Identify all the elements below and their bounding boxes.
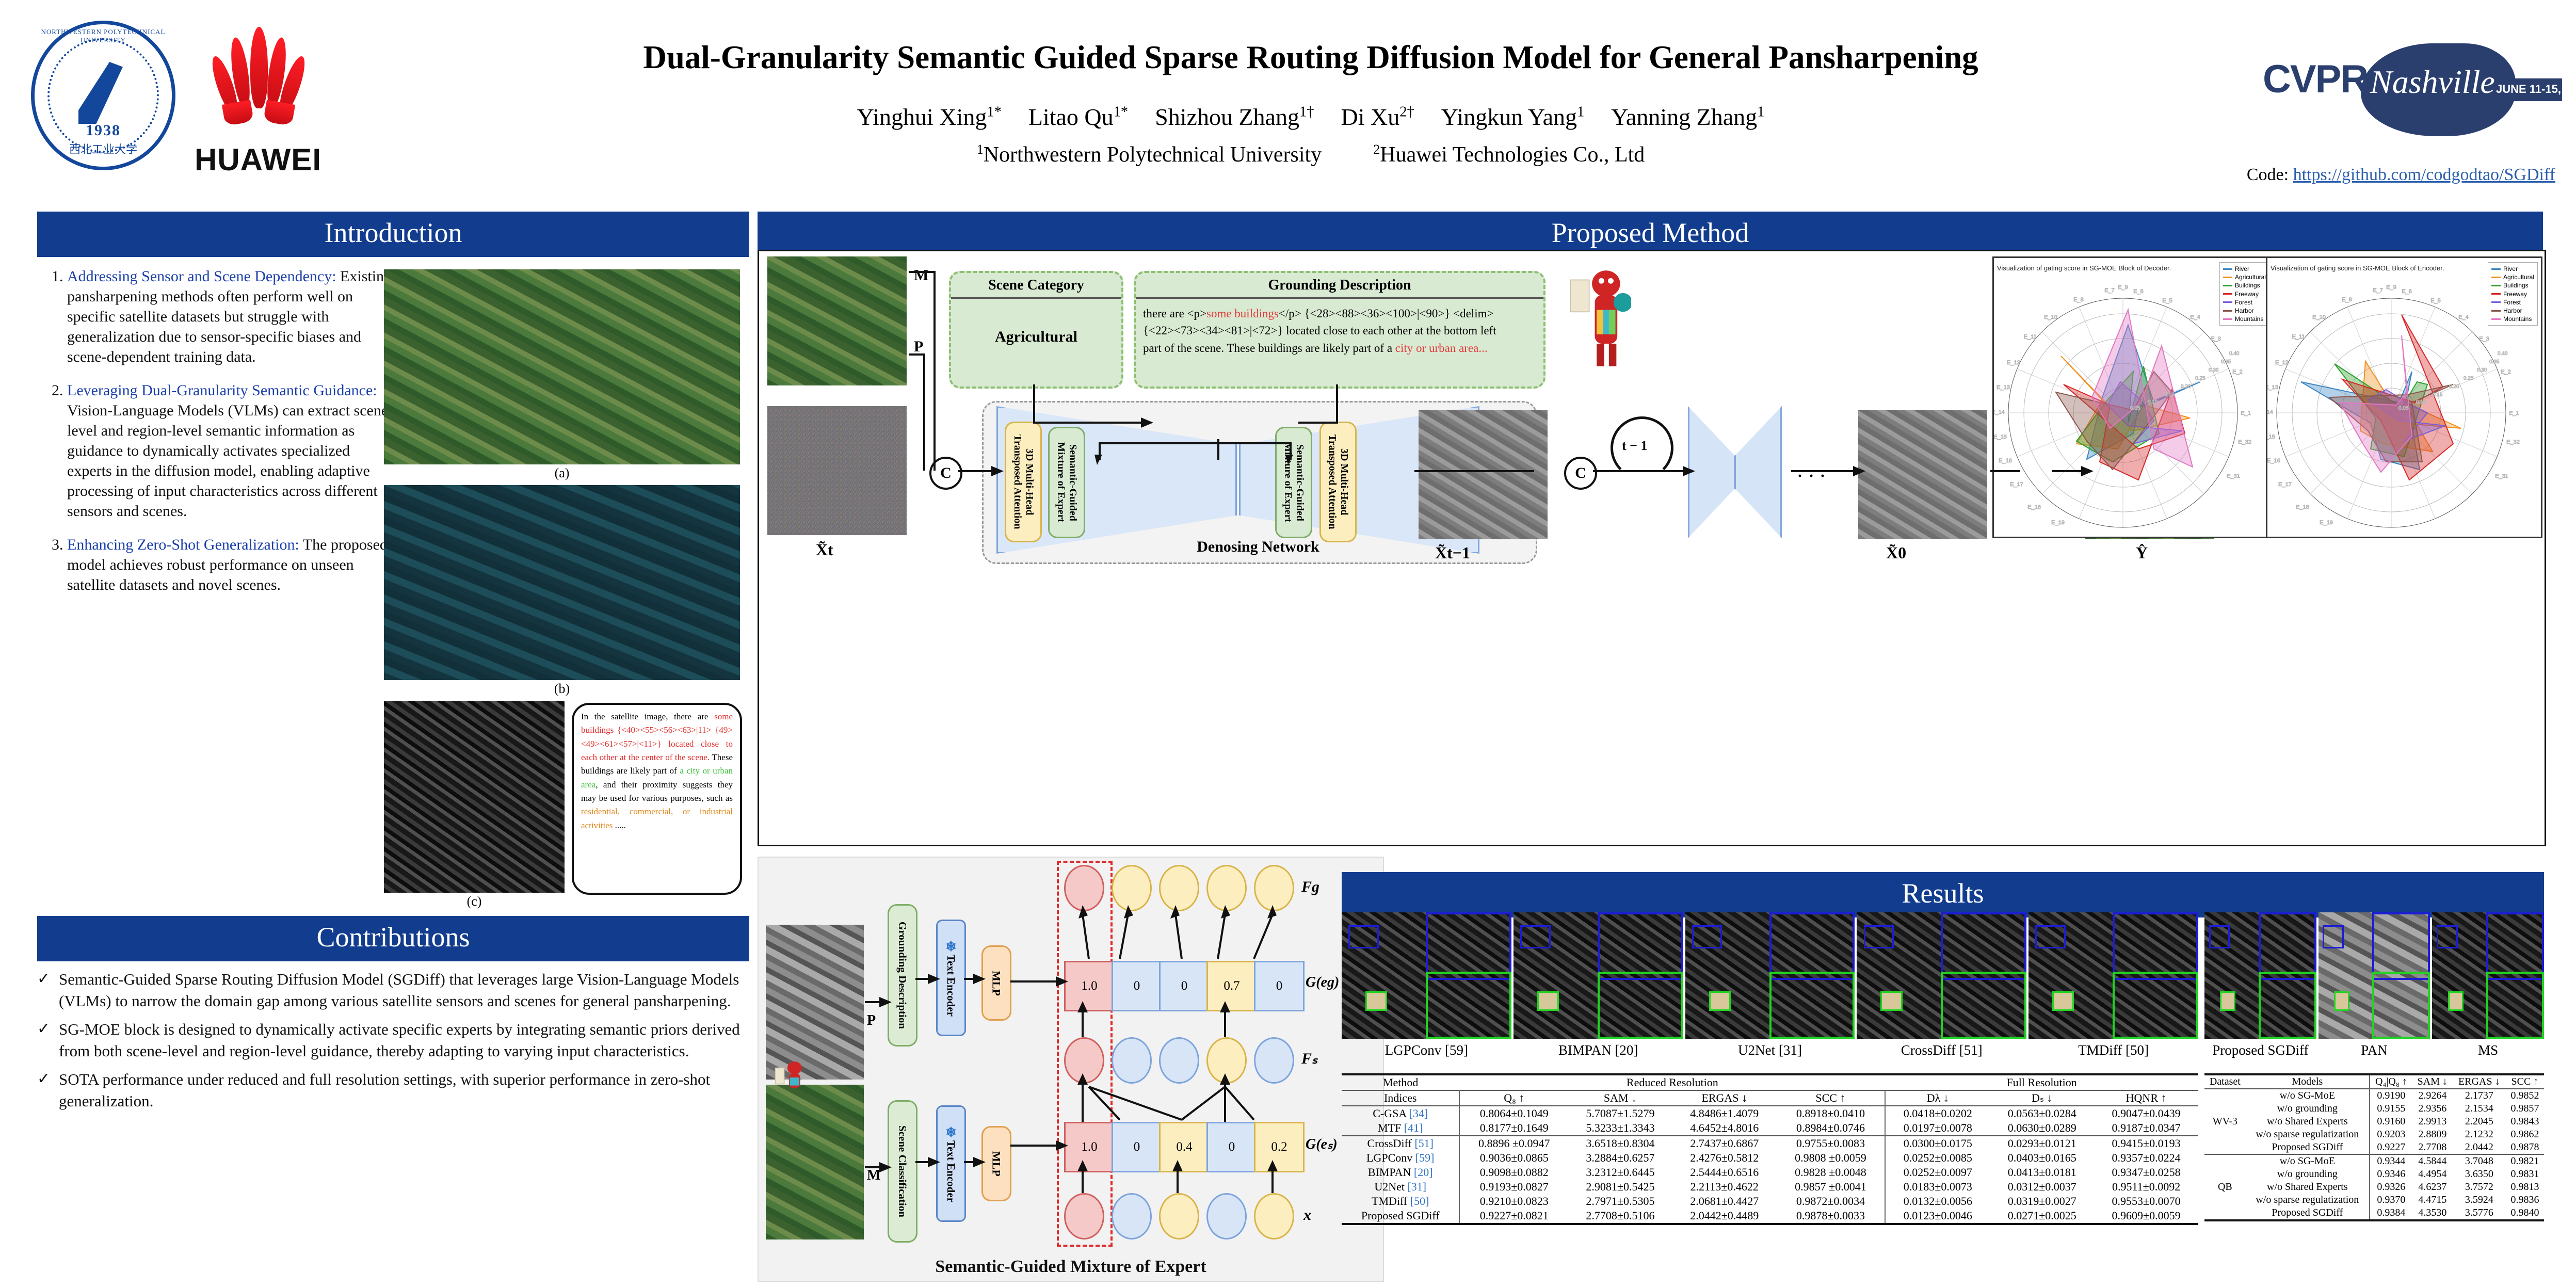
npu-logo-year: 1938 — [31, 122, 175, 139]
cell: 2.2113±0.4622 — [1672, 1180, 1777, 1194]
legend-item: River — [2223, 265, 2266, 273]
svg-text:E_2: E_2 — [2501, 369, 2511, 375]
table-row: LGPConv [59] 0.9036±0.0865 3.2884±0.6257… — [1342, 1151, 2198, 1165]
legend-item: Buildings — [2223, 281, 2266, 289]
timestep-label: t − 1 — [1622, 438, 1647, 454]
code-url-link[interactable]: https://github.com/codgodtao/SGDiff — [2293, 165, 2555, 184]
svg-text:0.20: 0.20 — [2449, 384, 2459, 390]
svg-text:E_2: E_2 — [2232, 369, 2243, 375]
moe-gate-top-cell-3: 0.7 — [1206, 961, 1257, 1011]
residual-image-xt1 — [1419, 410, 1548, 539]
grounding-line-1: there are <p>some buildings</p> {<28><88… — [1143, 305, 1536, 322]
npu-logo-top-text: NORTHWESTERN POLYTECHNICAL UNIVERSITY — [31, 28, 175, 44]
check-icon: ✓ — [37, 1069, 59, 1112]
svg-text:E_3: E_3 — [2211, 336, 2221, 342]
legend-item: Mountains — [2491, 315, 2534, 323]
cell: 4.3530 — [2412, 1206, 2453, 1220]
npu-logo-chinese: 西北工业大学 — [31, 140, 175, 157]
moe-gate-bottom-cell-1: 0 — [1112, 1122, 1162, 1172]
page-title: Dual-Granularity Semantic Guided Sparse … — [392, 39, 2229, 76]
th-q8: Q₈ ↑ — [1459, 1090, 1568, 1106]
input-ms-image — [767, 256, 907, 385]
cell: 0.9346 — [2370, 1168, 2412, 1181]
cvpr-dates: JUNE 11-15, 2025 — [2496, 83, 2576, 96]
denoise-block-3: 3D Multi-Head Transposed Attention — [1319, 422, 1357, 542]
svg-text:0.05: 0.05 — [2130, 406, 2140, 411]
moe-gate-bottom-cell-4: 0.2 — [1254, 1122, 1305, 1172]
svg-text:E_31: E_31 — [2227, 473, 2240, 479]
moe-text-encoder-bottom-label: Text Encoder — [945, 1140, 957, 1202]
th-sam: SAM ↓ — [1568, 1090, 1672, 1106]
intro-figure-b-caption: (b) — [384, 681, 740, 697]
cell: 2.2045 — [2453, 1115, 2506, 1128]
cell: 0.9415±0.0193 — [2094, 1136, 2198, 1151]
moe-gate-bottom-cell-2: 0.4 — [1159, 1122, 1210, 1172]
alpaca-mascot-icon — [1564, 267, 1631, 370]
cell: 0.9813 — [2506, 1181, 2544, 1194]
cell: 3.5776 — [2453, 1206, 2506, 1220]
svg-text:E_13: E_13 — [2267, 384, 2278, 391]
cell: 4.4715 — [2412, 1194, 2453, 1206]
stage-label-x0: X̃0 — [1886, 543, 1906, 562]
table-row: Proposed SGDiff 0.9227 2.7708 2.0442 0.9… — [2204, 1141, 2544, 1154]
legend-item: Freeway — [2223, 290, 2266, 298]
cell: 0.0293±0.0121 — [1990, 1136, 2094, 1151]
svg-text:E_17: E_17 — [2278, 481, 2292, 488]
table-row: Proposed SGDiff 0.9227±0.0821 2.7708±0.5… — [1342, 1209, 2198, 1224]
cell: 0.9227 — [2370, 1141, 2412, 1154]
th-full-resolution: Full Resolution — [1885, 1074, 2198, 1090]
moe-text-encoder-bottom: ❄ Text Encoder — [936, 1105, 966, 1222]
svg-text:E_3: E_3 — [2479, 336, 2489, 342]
th-sam: SAM ↓ — [2412, 1074, 2453, 1089]
svg-text:E_17: E_17 — [2010, 481, 2023, 488]
callout-text-7: ..... — [613, 820, 626, 830]
moe-node-x-4 — [1254, 1193, 1294, 1239]
affiliation-1: 2Huawei Technologies Co., Ltd — [1373, 143, 1645, 167]
callout-text-5: , and their proximity suggests they may … — [581, 780, 733, 803]
huawei-logo: HUAWEI — [183, 25, 333, 174]
cell: 3.2884±0.6257 — [1568, 1151, 1672, 1165]
moe-mlp-top: MLP — [981, 945, 1011, 1021]
svg-text:E_8: E_8 — [2342, 297, 2352, 303]
cell: 0.9843 — [2506, 1115, 2544, 1128]
svg-text:E_10: E_10 — [2044, 314, 2057, 320]
section-header-results: Results — [1342, 872, 2544, 917]
denoise-block-1: Semantic-Guided Mixture of Expert — [1048, 427, 1085, 538]
ellipsis-dots: ··· — [1796, 464, 1830, 489]
cell: 4.5844 — [2412, 1154, 2453, 1168]
cell: 0.0123±0.0046 — [1885, 1209, 1990, 1224]
cell: 0.0183±0.0073 — [1885, 1180, 1990, 1194]
moe-node-x-1 — [1112, 1193, 1152, 1239]
svg-text:0.10: 0.10 — [2416, 399, 2426, 405]
result-caption: CrossDiff [51] — [1857, 1042, 2026, 1058]
result-caption: MS — [2432, 1042, 2544, 1058]
introduction-panel: Introduction Addressing Sensor and Scene… — [37, 212, 749, 922]
moe-mlp-top-label: MLP — [990, 971, 1003, 996]
result-caption: BIMPAN [20] — [1514, 1042, 1683, 1058]
moe-mlp-bottom-label: MLP — [990, 1151, 1003, 1177]
row-model: Proposed SGDiff — [2246, 1206, 2370, 1220]
cell: 0.9878±0.0033 — [1777, 1209, 1886, 1224]
row-model: w/o sparse regulatization — [2246, 1128, 2370, 1141]
th-models: Models — [2246, 1074, 2370, 1089]
concat-operator-1: C — [929, 457, 962, 490]
row-method: Proposed SGDiff — [1342, 1209, 1459, 1224]
svg-text:E_4: E_4 — [2458, 314, 2469, 320]
cell: 5.7087±1.5279 — [1568, 1106, 1672, 1121]
scene-category-title: Scene Category — [951, 273, 1121, 299]
moe-ms-image — [766, 1085, 864, 1239]
cell: 0.9808 ±0.0059 — [1777, 1151, 1886, 1165]
author-list: Yinghui Xing1*Litao Qu1*Shizhou Zhang1†D… — [392, 103, 2229, 131]
svg-text:E_11: E_11 — [2292, 334, 2305, 340]
row-model: Proposed SGDiff — [2246, 1141, 2370, 1154]
svg-text:0.25: 0.25 — [2195, 376, 2205, 381]
moe-grounding-branch: Grounding Description — [888, 904, 917, 1046]
th-ergas: ERGAS ↓ — [2453, 1074, 2506, 1089]
cell: 3.7048 — [2453, 1154, 2506, 1168]
callout-text-orange: residential, commercial, or industrial a… — [581, 807, 733, 830]
list-item: Enhancing Zero-Shot Generalization: The … — [67, 535, 397, 595]
svg-text:E_13: E_13 — [1997, 384, 2010, 391]
cell: 2.1534 — [2453, 1102, 2506, 1115]
check-icon: ✓ — [37, 1019, 59, 1061]
scene-category-box: Scene Category Agricultural — [949, 271, 1123, 389]
author-4: Yingkun Yang1 — [1441, 104, 1585, 130]
cvpr-logo: CVPR Nashville JUNE 11-15, 2025 — [2263, 41, 2562, 139]
svg-text:0.35: 0.35 — [2489, 359, 2500, 365]
moe-scene-branch: Scene Classification — [888, 1100, 917, 1243]
cell: 2.0442±0.4489 — [1672, 1209, 1777, 1224]
author-0: Yinghui Xing1* — [857, 104, 1002, 130]
cell: 0.9326 — [2370, 1181, 2412, 1194]
th-scc: SCC ↑ — [1777, 1090, 1886, 1106]
row-model: w/o SG-MoE — [2246, 1154, 2370, 1168]
noisy-input-image — [767, 406, 907, 535]
concat-operator-2: C — [1564, 457, 1597, 490]
snowflake-icon: ❄ — [945, 1125, 957, 1140]
row-dataset-qb: QB — [2204, 1154, 2246, 1220]
list-item: Leveraging Dual-Granularity Semantic Gui… — [67, 380, 397, 521]
table-row: w/o sparse regulatization 0.9203 2.8809 … — [2204, 1128, 2544, 1141]
small-unet-right — [1734, 406, 1782, 538]
huawei-wordmark: HUAWEI — [183, 142, 333, 178]
cell: 0.9190 — [2370, 1089, 2412, 1102]
cell: 0.0132±0.0056 — [1885, 1194, 1990, 1209]
svg-text:0.20: 0.20 — [2181, 384, 2191, 390]
row-model: w/o Shared Experts — [2246, 1115, 2370, 1128]
svg-text:E_9: E_9 — [2386, 284, 2396, 291]
svg-text:E_12: E_12 — [2275, 360, 2289, 366]
cell: 0.9872±0.0034 — [1777, 1194, 1886, 1209]
svg-text:E_7: E_7 — [2373, 287, 2383, 294]
cvpr-acronym: CVPR — [2263, 57, 2368, 102]
cell: 0.0413±0.0181 — [1990, 1165, 2094, 1180]
introduction-body: Addressing Sensor and Scene Dependency: … — [37, 266, 749, 922]
moe-grounding-branch-label: Grounding Description — [896, 922, 909, 1029]
cell: 0.9609±0.0059 — [2094, 1209, 2198, 1224]
cell: 2.7708 — [2412, 1141, 2453, 1154]
result-caption: PAN — [2319, 1042, 2430, 1058]
result-image-cell — [1342, 912, 1511, 1039]
svg-text:E_19: E_19 — [2320, 520, 2333, 526]
legend-item: Agricultural — [2491, 273, 2534, 281]
proposed-method-panel: Proposed Method M P Scene Category Agric… — [758, 212, 2543, 846]
moe-gate-bottom-label: G(eₛ) — [1306, 1135, 1338, 1153]
denoise-block-3-label: 3D Multi-Head Transposed Attention — [1326, 423, 1350, 541]
table-row: w/o grounding 0.9346 4.4954 3.6350 0.983… — [2204, 1168, 2544, 1181]
moe-gate-top-cell-0: 1.0 — [1064, 961, 1115, 1011]
th-scc: SCC ↑ — [2506, 1074, 2544, 1089]
cell: 4.8486±1.4079 — [1672, 1106, 1777, 1121]
cell: 0.9155 — [2370, 1102, 2412, 1115]
svg-text:E_15: E_15 — [1994, 434, 2007, 440]
table-row: TMDiff [50] 0.9210±0.0823 2.7971±0.5305 … — [1342, 1194, 2198, 1209]
stage-label-xt-1: X̃t−1 — [1435, 543, 1470, 562]
cell: 2.1737 — [2453, 1089, 2506, 1102]
table-row: w/o Shared Experts 0.9326 4.6237 3.7572 … — [2204, 1181, 2544, 1194]
table-row: Dataset Models Q₄|Q₈ ↑ SAM ↓ ERGAS ↓ SCC… — [2204, 1074, 2544, 1089]
result-caption: TMDiff [50] — [2028, 1042, 2198, 1058]
author-3: Di Xu2† — [1341, 104, 1414, 130]
svg-text:E_5: E_5 — [2430, 298, 2441, 304]
contributions-body: ✓Semantic-Guided Sparse Routing Diffusio… — [37, 969, 749, 1112]
moe-scene-branch-label: Scene Classification — [896, 1125, 909, 1217]
th-reduced-resolution: Reduced Resolution — [1459, 1074, 1885, 1090]
table-row: CrossDiff [51] 0.8896 ±0.0947 3.6518±0.8… — [1342, 1136, 2198, 1151]
moe-gate-top-label: G(eɡ) — [1306, 974, 1339, 991]
legend-item: Harbor — [2491, 307, 2534, 315]
cell: 0.9370 — [2370, 1194, 2412, 1206]
svg-text:E_1: E_1 — [2509, 410, 2519, 416]
result-image-cell — [1857, 912, 2026, 1039]
proposed-method-diagram: M P Scene Category Agricultural Groundin… — [758, 250, 2546, 846]
legend-item: Mountains — [2223, 315, 2266, 323]
cvpr-city: Nashville — [2370, 63, 2495, 101]
grounding-description-body: there are <p>some buildings</p> {<28><88… — [1136, 299, 1543, 363]
denoise-block-2: Semantic-Guided Mixture of Expert — [1275, 427, 1312, 538]
moe-pan-image — [766, 925, 864, 1080]
radar-encoder-legend: River Agricultural Buildings Freeway For… — [2488, 262, 2538, 326]
svg-text:E_32: E_32 — [2506, 439, 2520, 445]
th-q4q8: Q₄|Q₈ ↑ — [2370, 1074, 2412, 1089]
svg-text:E_5: E_5 — [2162, 298, 2172, 304]
cell: 0.9852 — [2506, 1089, 2544, 1102]
results-panel: Results LGPConv [59] BIMPAN [20] U2Net [… — [1342, 872, 2544, 1280]
huawei-petal-6 — [222, 100, 254, 126]
cell: 2.9356 — [2412, 1102, 2453, 1115]
cell: 0.9187±0.0347 — [2094, 1121, 2198, 1136]
moe-gate-top-cell-2: 0 — [1159, 961, 1210, 1011]
cell: 0.9210±0.0823 — [1459, 1194, 1568, 1209]
table-row: Indices Q₈ ↑ SAM ↓ ERGAS ↓ SCC ↑ Dλ ↓ Dₛ… — [1342, 1090, 2198, 1106]
contribution-0: Semantic-Guided Sparse Routing Diffusion… — [59, 969, 749, 1011]
svg-text:E_11: E_11 — [2024, 334, 2037, 340]
cell: 0.9357±0.0224 — [2094, 1151, 2198, 1165]
author-1: Litao Qu1* — [1028, 104, 1128, 130]
cell: 0.9821 — [2506, 1154, 2544, 1168]
cell: 0.8177±0.1649 — [1459, 1121, 1568, 1136]
residual-image-x0 — [1858, 410, 1987, 539]
cell: 2.4276±0.5812 — [1672, 1151, 1777, 1165]
moe-gate-top-cell-1: 0 — [1112, 961, 1162, 1011]
moe-gate-bottom-cell-3: 0 — [1206, 1122, 1257, 1172]
contributions-panel: Contributions ✓Semantic-Guided Sparse Ro… — [37, 916, 749, 1119]
cell: 2.1232 — [2453, 1128, 2506, 1141]
sgmoe-diagram-panel: P M Grounding Description Scene Classifi… — [758, 857, 1384, 1282]
moe-node-fs-0 — [1064, 1037, 1104, 1084]
intro-figure-c-caption: (c) — [384, 894, 565, 909]
intro-head-0: Addressing Sensor and Scene Dependency: — [67, 268, 336, 285]
poster-root: NORTHWESTERN POLYTECHNICAL UNIVERSITY 19… — [0, 0, 2576, 1288]
cell: 0.9098±0.0882 — [1459, 1165, 1568, 1180]
cell: 0.9831 — [2506, 1168, 2544, 1181]
ms-label: M — [914, 267, 928, 284]
denoise-block-2-label: Semantic-Guided Mixture of Expert — [1282, 428, 1306, 537]
radar-chart-encoder: Visualization of gating score in SG-MOE … — [2266, 256, 2542, 538]
result-caption: Proposed SGDiff — [2204, 1042, 2316, 1058]
radar-encoder-title: Visualization of gating score in SG-MOE … — [2271, 264, 2444, 272]
author-5: Yanning Zhang1 — [1611, 104, 1764, 130]
stage-label-yhat: Ŷ — [2136, 543, 2148, 562]
cell: 0.0319±0.0027 — [1990, 1194, 2094, 1209]
cell: 0.9511±0.0092 — [2094, 1180, 2198, 1194]
moe-gate-bottom-cell-0: 1.0 — [1064, 1122, 1115, 1172]
cell: 2.7708±0.5106 — [1568, 1209, 1672, 1224]
cell: 0.9344 — [2370, 1154, 2412, 1168]
cell: 0.9878 — [2506, 1141, 2544, 1154]
results-ablation-table: Dataset Models Q₄|Q₈ ↑ SAM ↓ ERGAS ↓ SCC… — [2204, 1073, 2544, 1221]
svg-text:E_10: E_10 — [2312, 314, 2326, 320]
intro-callout-box: In the satellite image, there are some b… — [572, 703, 742, 895]
svg-text:E_6: E_6 — [2133, 288, 2144, 295]
cell: 0.0312±0.0037 — [1990, 1180, 2094, 1194]
moe-pan-label: P — [867, 1012, 876, 1029]
svg-text:0.40: 0.40 — [2498, 351, 2508, 357]
result-image-cell — [2204, 912, 2316, 1039]
svg-text:E_31: E_31 — [2495, 473, 2508, 479]
table-row: MTF [41] 0.8177±0.1649 5.3233±1.3343 4.6… — [1342, 1121, 2198, 1136]
moe-node-x-0 — [1064, 1193, 1104, 1239]
moe-node-fs-2 — [1159, 1037, 1199, 1084]
table-row: w/o grounding 0.9155 2.9356 2.1534 0.985… — [2204, 1102, 2544, 1115]
cell: 0.9836 — [2506, 1194, 2544, 1206]
svg-text:E_14: E_14 — [1994, 409, 2005, 415]
table-row: Proposed SGDiff 0.9384 4.3530 3.5776 0.9… — [2204, 1206, 2544, 1220]
row-method: C-GSA [34] — [1342, 1106, 1459, 1121]
row-dataset-wv3: WV-3 — [2204, 1089, 2246, 1154]
moe-feature-label-fg: Fɡ — [1301, 878, 1319, 896]
moe-ms-label: M — [867, 1167, 880, 1184]
cell: 0.9160 — [2370, 1115, 2412, 1128]
result-image-cell — [2028, 912, 2198, 1039]
svg-text:0.05: 0.05 — [2398, 406, 2409, 411]
svg-text:E_16: E_16 — [2267, 458, 2280, 464]
author-2: Shizhou Zhang1† — [1155, 104, 1314, 130]
grounding-line-2: {<22><73><34><81>|<72>} located close to… — [1143, 322, 1536, 339]
cell: 0.0197±0.0078 — [1885, 1121, 1990, 1136]
cell: 3.2312±0.6445 — [1568, 1165, 1672, 1180]
moe-mlp-bottom: MLP — [981, 1126, 1011, 1201]
list-item: ✓Semantic-Guided Sparse Routing Diffusio… — [37, 969, 749, 1011]
moe-node-fs-4 — [1254, 1037, 1294, 1084]
svg-text:E_12: E_12 — [2007, 360, 2020, 366]
th-ergas: ERGAS ↓ — [1672, 1090, 1777, 1106]
huawei-petal-7 — [263, 100, 295, 126]
cell: 0.9347±0.0258 — [2094, 1165, 2198, 1180]
grounding-description-title: Grounding Description — [1136, 273, 1543, 299]
result-caption: LGPConv [59] — [1342, 1042, 1511, 1058]
th-dlambda: Dλ ↓ — [1885, 1090, 1990, 1106]
row-method: U2Net [31] — [1342, 1180, 1459, 1194]
results-caption-row-right: Proposed SGDiff PAN MS — [2204, 1042, 2544, 1058]
svg-text:E_18: E_18 — [2296, 504, 2309, 510]
legend-item: Agricultural — [2223, 273, 2266, 281]
table-row: U2Net [31] 0.9193±0.0827 2.9081±0.5425 2… — [1342, 1180, 2198, 1194]
cell: 2.7971±0.5305 — [1568, 1194, 1672, 1209]
cell: 0.9227±0.0821 — [1459, 1209, 1568, 1224]
cell: 0.0271±0.0025 — [1990, 1209, 2094, 1224]
row-method: CrossDiff [51] — [1342, 1136, 1459, 1151]
check-icon: ✓ — [37, 969, 59, 1011]
cell: 0.0563±0.0284 — [1990, 1106, 2094, 1121]
legend-item: Buildings — [2491, 281, 2534, 289]
cell: 3.5924 — [2453, 1194, 2506, 1206]
svg-text:E_4: E_4 — [2190, 314, 2200, 320]
intro-figure-b — [384, 485, 740, 680]
svg-text:E_6: E_6 — [2402, 288, 2412, 295]
row-method: LGPConv [59] — [1342, 1151, 1459, 1165]
svg-text:0.15: 0.15 — [2433, 392, 2443, 398]
intro-head-2: Enhancing Zero-Shot Generalization: — [67, 536, 299, 553]
cell: 0.9036±0.0865 — [1459, 1151, 1568, 1165]
result-image-cell — [1514, 912, 1683, 1039]
svg-text:E_8: E_8 — [2073, 297, 2084, 303]
cell: 2.0442 — [2453, 1141, 2506, 1154]
intro-head-1: Leveraging Dual-Granularity Semantic Gui… — [67, 382, 377, 399]
moe-text-encoder-top-label: Text Encoder — [945, 955, 957, 1017]
svg-text:E_15: E_15 — [2267, 434, 2275, 440]
cell: 4.6452±4.8016 — [1672, 1121, 1777, 1136]
code-label: Code: — [2247, 165, 2289, 184]
svg-text:E_14: E_14 — [2267, 409, 2273, 415]
cell: 4.4954 — [2412, 1168, 2453, 1181]
moe-node-fg-3 — [1206, 865, 1247, 911]
grounding-description-box: Grounding Description there are <p>some … — [1134, 271, 1545, 389]
radar-chart-decoder: Visualization of gating score in SG-MOE … — [1992, 256, 2274, 538]
table-row: C-GSA [34] 0.8064±0.1049 5.7087±1.5279 4… — [1342, 1106, 2198, 1121]
table-row: QB w/o SG-MoE 0.9344 4.5844 3.7048 0.982… — [2204, 1154, 2544, 1168]
intro-figure-a-caption: (a) — [384, 465, 740, 481]
contribution-2: SOTA performance under reduced and full … — [59, 1069, 749, 1112]
cell: 0.8896 ±0.0947 — [1459, 1136, 1568, 1151]
list-item: ✓SG-MOE block is designed to dynamically… — [37, 1019, 749, 1061]
cell: 0.0403±0.0165 — [1990, 1151, 2094, 1165]
cell: 0.9862 — [2506, 1128, 2544, 1141]
radar-decoder-legend: River Agricultural Buildings Freeway For… — [2219, 262, 2269, 326]
callout-text-1: In the satellite image, there are — [581, 712, 714, 721]
cell: 2.7437±0.6867 — [1672, 1136, 1777, 1151]
moe-feature-label-fs: Fₛ — [1301, 1050, 1317, 1068]
svg-text:E_16: E_16 — [1999, 458, 2012, 464]
svg-text:0.25: 0.25 — [2464, 376, 2474, 381]
cell: 2.5444±0.6516 — [1672, 1165, 1777, 1180]
radar-decoder-title: Visualization of gating score in SG-MOE … — [1997, 264, 2171, 272]
code-link-line: Code: https://github.com/codgodtao/SGDif… — [2247, 165, 2555, 185]
cell: 0.9193±0.0827 — [1459, 1180, 1568, 1194]
